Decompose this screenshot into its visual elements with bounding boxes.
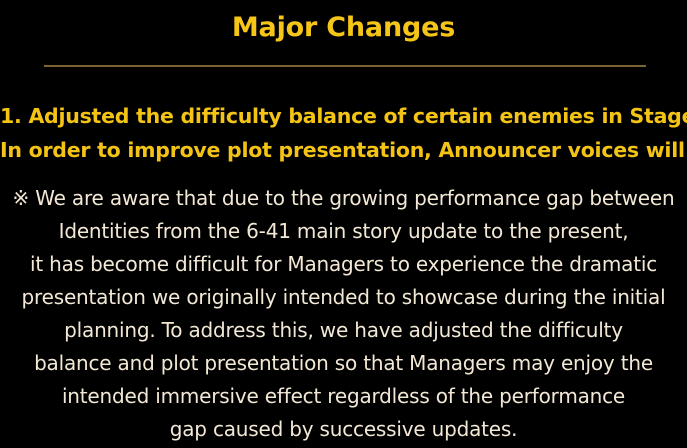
header-divider <box>44 65 646 67</box>
notice-item: In order to improve plot presentation, A… <box>0 133 687 167</box>
body-line: Identities from the 6-41 main story upda… <box>0 215 687 248</box>
body-line: it has become difficult for Managers to … <box>0 248 687 281</box>
body-line: intended immersive effect regardless of … <box>0 380 687 413</box>
notice-body: ※ We are aware that due to the growing p… <box>0 182 687 446</box>
body-line: ※ We are aware that due to the growing p… <box>0 182 687 215</box>
notice-item: 1. Adjusted the difficulty balance of ce… <box>0 99 687 133</box>
body-line: presentation we originally intended to s… <box>0 281 687 314</box>
notice-list: 1. Adjusted the difficulty balance of ce… <box>0 99 687 167</box>
body-line: gap caused by successive updates. <box>0 413 687 446</box>
page-title: Major Changes <box>0 10 687 46</box>
body-line: planning. To address this, we have adjus… <box>0 314 687 347</box>
notice-page: Major Changes 1. Adjusted the difficulty… <box>0 0 687 448</box>
body-line: balance and plot presentation so that Ma… <box>0 347 687 380</box>
